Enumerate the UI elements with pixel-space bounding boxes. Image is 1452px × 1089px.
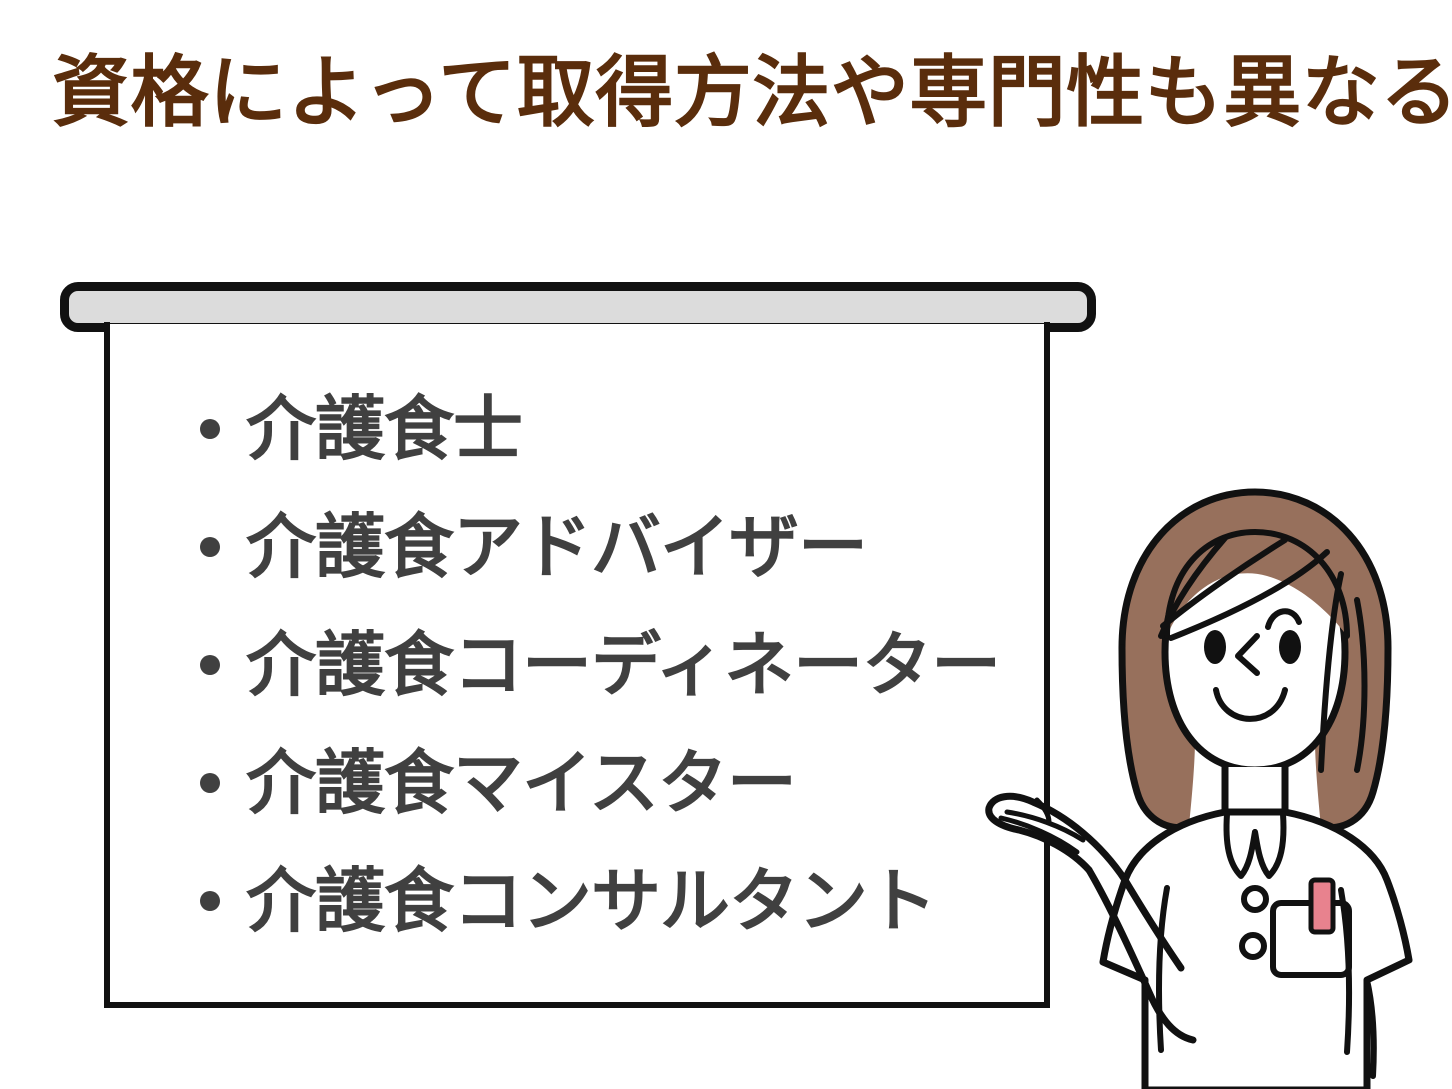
- bullet-dot-icon: [200, 537, 220, 557]
- bullet-dot-icon: [200, 773, 220, 793]
- list-item-label: 介護食マイスター: [246, 748, 796, 818]
- bullet-dot-icon: [200, 419, 220, 439]
- list-item-label: 介護食アドバイザー: [246, 512, 867, 582]
- projector-screen: 介護食士 介護食アドバイザー 介護食コーディネーター 介護食マイスター 介護食コ: [60, 282, 1098, 1012]
- bullet-dot-icon: [200, 891, 220, 911]
- list-item: 介護食マイスター: [200, 724, 1060, 842]
- list-item: 介護食コンサルタント: [200, 842, 1060, 960]
- screen-canvas: 介護食士 介護食アドバイザー 介護食コーディネーター 介護食マイスター 介護食コ: [104, 324, 1050, 1008]
- bullet-dot-icon: [200, 655, 220, 675]
- uniform-button-top: [1244, 888, 1266, 910]
- qualification-list: 介護食士 介護食アドバイザー 介護食コーディネーター 介護食マイスター 介護食コ: [200, 370, 1060, 960]
- right-eye: [1279, 630, 1301, 664]
- slide-root: 資格によって取得方法や専門性も異なる 介護食士 介護食アドバイザー 介護食コーデ…: [0, 0, 1452, 1089]
- list-item: 介護食士: [200, 370, 1060, 488]
- caregiver-figure-icon: [985, 440, 1452, 1089]
- list-item-label: 介護食コンサルタント: [246, 866, 936, 936]
- list-item-label: 介護食コーディネーター: [246, 630, 1000, 700]
- caregiver-illustration: [985, 440, 1452, 1089]
- left-eye: [1204, 630, 1226, 664]
- list-item: 介護食コーディネーター: [200, 606, 1060, 724]
- pocket-pen: [1311, 880, 1333, 932]
- list-item: 介護食アドバイザー: [200, 488, 1060, 606]
- list-item-label: 介護食士: [246, 394, 522, 464]
- uniform-button-bottom: [1242, 935, 1264, 957]
- page-title: 資格によって取得方法や専門性も異なる: [52, 52, 1412, 134]
